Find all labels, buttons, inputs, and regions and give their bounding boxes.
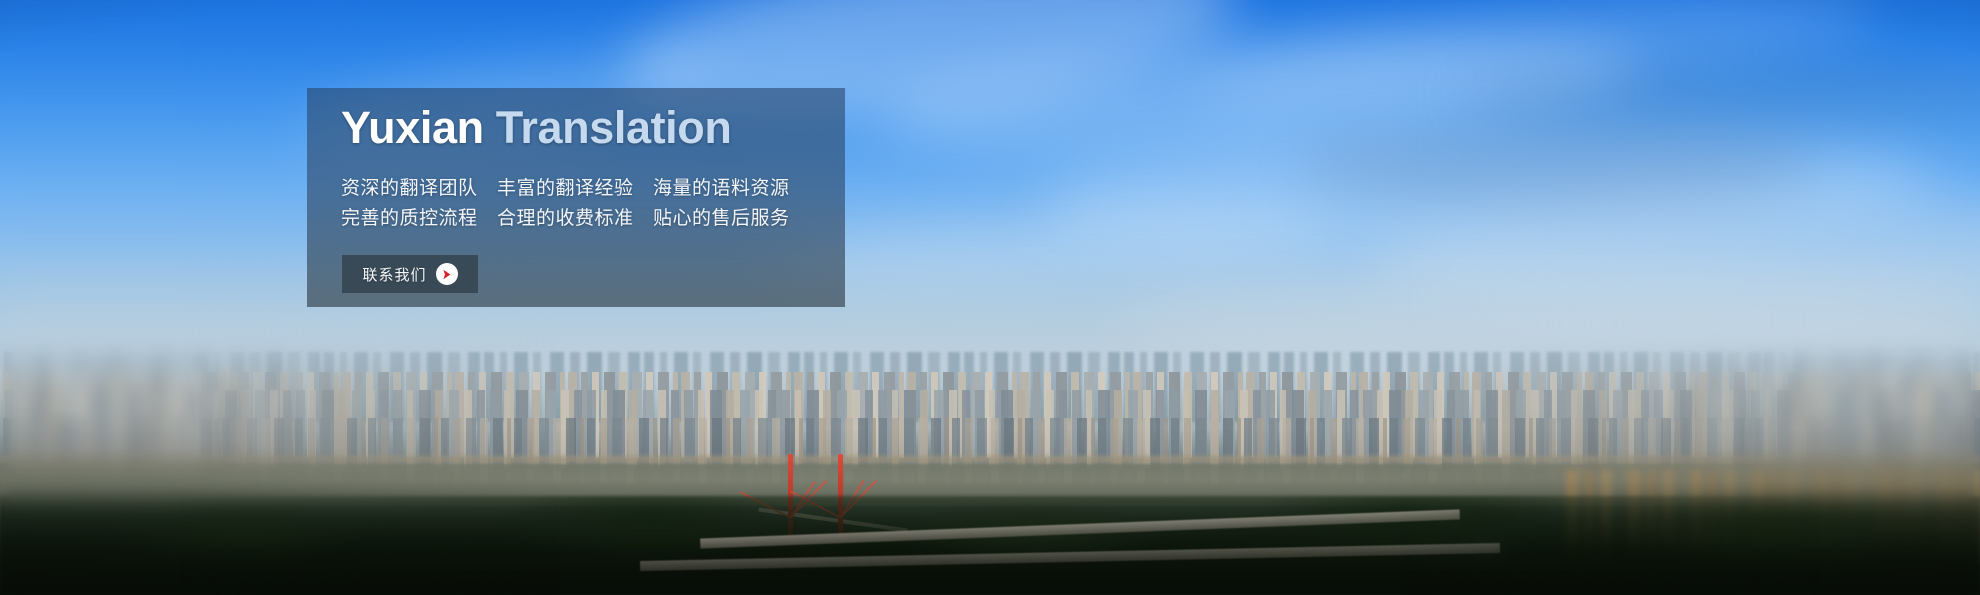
- hero-banner: Yuxian Translation 资深的翻译团队 丰富的翻译经验 海量的语料…: [0, 0, 1980, 595]
- tree-ridge-foreground: [0, 496, 1980, 595]
- cloud-shadow-band: [1300, 120, 1820, 210]
- feature-line-1: 资深的翻译团队 丰富的翻译经验 海量的语料资源: [341, 173, 790, 203]
- contact-us-button[interactable]: 联系我们: [342, 255, 478, 293]
- hero-content-panel: Yuxian Translation 资深的翻译团队 丰富的翻译经验 海量的语料…: [307, 88, 845, 307]
- feature-line-2: 完善的质控流程 合理的收费标准 贴心的售后服务: [341, 203, 790, 233]
- page-title: Yuxian Translation: [341, 105, 731, 150]
- page-title-secondary: Translation: [496, 102, 732, 153]
- page-title-primary: Yuxian: [341, 102, 484, 153]
- contact-us-button-label: 联系我们: [362, 264, 426, 285]
- hero-content-inner: Yuxian Translation 资深的翻译团队 丰富的翻译经验 海量的语料…: [341, 88, 825, 307]
- arrow-right-circle-icon: [436, 263, 458, 285]
- page-title-space: [484, 102, 496, 153]
- feature-list: 资深的翻译团队 丰富的翻译经验 海量的语料资源 完善的质控流程 合理的收费标准 …: [341, 173, 790, 233]
